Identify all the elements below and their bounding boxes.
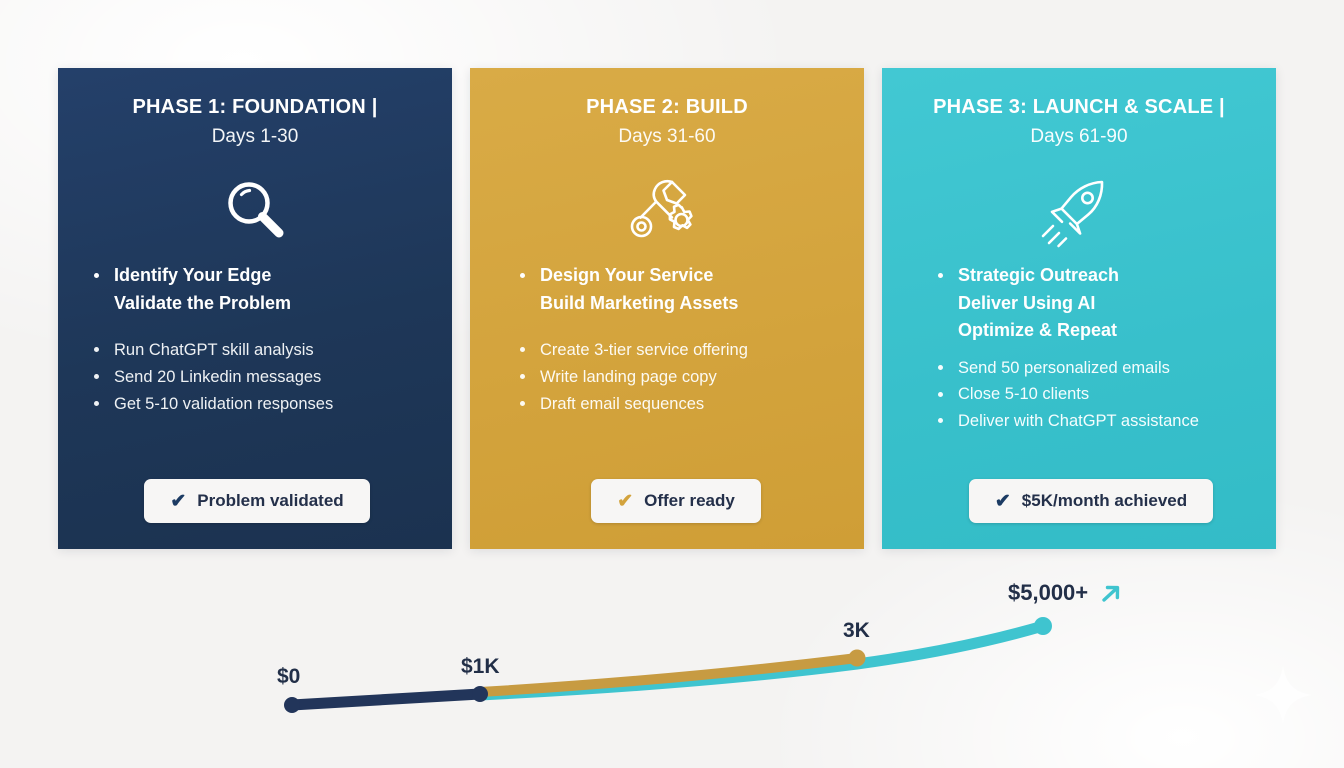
list-item: Design Your Service: [518, 262, 834, 290]
list-item: Strategic Outreach: [936, 262, 1246, 290]
phase-card-1-badge-row: ✔ Problem validated: [92, 479, 422, 523]
phase-cards-row: PHASE 1: FOUNDATION | Days 1-30 Identify…: [58, 68, 1276, 549]
phase-card-3-body: Strategic Outreach Deliver Using AI Opti…: [882, 248, 1276, 549]
phase-card-1-task-list: Run ChatGPT skill analysis Send 20 Linke…: [92, 337, 422, 417]
phase-card-3-badge-row: ✔ $5K/month achieved: [936, 479, 1246, 523]
slide-canvas: PHASE 1: FOUNDATION | Days 1-30 Identify…: [0, 0, 1344, 768]
data-label-3: $5,000+: [1008, 580, 1088, 606]
phase-card-3-task-list: Send 50 personalized emails Close 5-10 c…: [936, 355, 1246, 435]
data-point-1: [472, 686, 488, 702]
wrench-gear-icon: [626, 174, 708, 248]
list-item: Create 3-tier service offering: [518, 337, 834, 364]
phase-card-2-task-list: Create 3-tier service offering Write lan…: [518, 337, 834, 417]
list-item: Send 50 personalized emails: [936, 355, 1246, 382]
phase-card-2-badge-row: ✔ Offer ready: [518, 479, 834, 523]
phase-card-2-title: PHASE 2: BUILD: [586, 96, 748, 118]
rocket-icon: [1039, 174, 1119, 248]
status-badge[interactable]: ✔ Problem validated: [144, 479, 369, 523]
magnifier-icon: [218, 174, 292, 248]
phase-card-3[interactable]: PHASE 3: LAUNCH & SCALE | Days 61-90 Str…: [882, 68, 1276, 549]
phase-card-1-title: PHASE 1: FOUNDATION |: [133, 96, 378, 118]
list-item: Draft email sequences: [518, 391, 834, 418]
data-point-3: [1034, 617, 1052, 635]
data-label-2: 3K: [843, 619, 870, 643]
phase-card-1-lead-list: Identify Your Edge Validate the Problem: [92, 262, 422, 317]
data-point-2: [849, 650, 866, 667]
list-item: Get 5-10 validation responses: [92, 391, 422, 418]
list-item: Close 5-10 clients: [936, 381, 1246, 408]
phase-card-1-body: Identify Your Edge Validate the Problem …: [58, 248, 452, 549]
list-item: Build Marketing Assets: [518, 290, 834, 318]
list-item: Deliver Using AI: [936, 290, 1246, 318]
check-icon: ✔: [995, 492, 1011, 511]
list-item: Identify Your Edge: [92, 262, 422, 290]
check-icon: ✔: [170, 492, 186, 511]
phase-card-2-lead-list: Design Your Service Build Marketing Asse…: [518, 262, 834, 317]
phase-card-3-lead-list: Strategic Outreach Deliver Using AI Opti…: [936, 262, 1246, 345]
chart-svg: [0, 556, 1344, 768]
status-badge-label: Problem validated: [197, 491, 343, 511]
phase-card-1[interactable]: PHASE 1: FOUNDATION | Days 1-30 Identify…: [58, 68, 452, 549]
phase-card-2-body: Design Your Service Build Marketing Asse…: [470, 248, 864, 549]
list-item: Optimize & Repeat: [936, 317, 1246, 345]
status-badge[interactable]: ✔ $5K/month achieved: [969, 479, 1213, 523]
list-item: Validate the Problem: [92, 290, 422, 318]
phase-card-2[interactable]: PHASE 2: BUILD Days 31-60 Design Your Se…: [470, 68, 864, 549]
status-badge-label: Offer ready: [644, 491, 735, 511]
trending-up-arrow-icon: [1098, 582, 1124, 608]
phase-card-3-subtitle: Days 61-90: [1030, 126, 1127, 148]
data-point-0: [284, 697, 300, 713]
check-icon: ✔: [617, 492, 633, 511]
data-label-0: $0: [277, 665, 300, 689]
list-item: Run ChatGPT skill analysis: [92, 337, 422, 364]
phase-card-2-subtitle: Days 31-60: [618, 126, 715, 148]
phase-card-3-title: PHASE 3: LAUNCH & SCALE |: [933, 96, 1225, 118]
growth-line-chart: $0 $1K 3K $5,000+: [0, 556, 1344, 768]
list-item: Deliver with ChatGPT assistance: [936, 408, 1246, 435]
status-badge-label: $5K/month achieved: [1022, 491, 1187, 511]
data-label-1: $1K: [461, 655, 500, 679]
list-item: Send 20 Linkedin messages: [92, 364, 422, 391]
status-badge[interactable]: ✔ Offer ready: [591, 479, 761, 523]
list-item: Write landing page copy: [518, 364, 834, 391]
phase-card-1-subtitle: Days 1-30: [212, 126, 299, 148]
series-phase-1-line: [292, 694, 480, 705]
